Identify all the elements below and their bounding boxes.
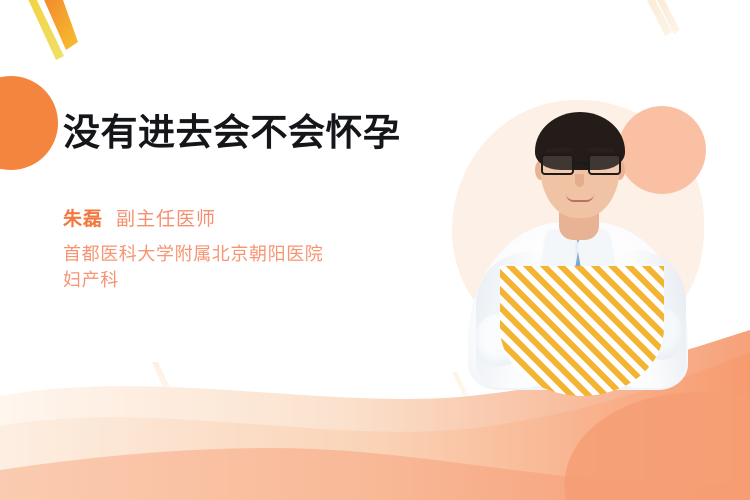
glasses-bridge bbox=[574, 162, 588, 165]
nose bbox=[575, 174, 584, 187]
page-title: 没有进去会不会怀孕 bbox=[63, 112, 408, 154]
top-right-streak-group bbox=[642, 0, 680, 36]
glasses-lens-left bbox=[541, 154, 574, 175]
text-content: 没有进去会不会怀孕 朱磊 副主任医师 首都医科大学附属北京朝阳医院 妇产科 bbox=[63, 112, 408, 293]
glasses-icon bbox=[541, 154, 621, 175]
doctor-rank: 副主任医师 bbox=[116, 204, 216, 231]
department-name: 妇产科 bbox=[63, 270, 119, 290]
doctor-name: 朱磊 bbox=[63, 204, 103, 231]
mouth bbox=[566, 194, 594, 202]
doctor-portrait-area bbox=[442, 84, 714, 384]
hospital-name: 首都医科大学附属北京朝阳医院 bbox=[63, 244, 323, 264]
glasses-lens-right bbox=[588, 154, 621, 175]
doctor-credential-line: 朱磊 副主任医师 bbox=[63, 204, 408, 231]
top-left-streak-group bbox=[22, 0, 78, 60]
health-video-cover-card: 没有进去会不会怀孕 朱磊 副主任医师 首都医科大学附属北京朝阳医院 妇产科 bbox=[0, 0, 750, 500]
doctor-affiliation: 首都医科大学附属北京朝阳医院 妇产科 bbox=[63, 242, 388, 293]
